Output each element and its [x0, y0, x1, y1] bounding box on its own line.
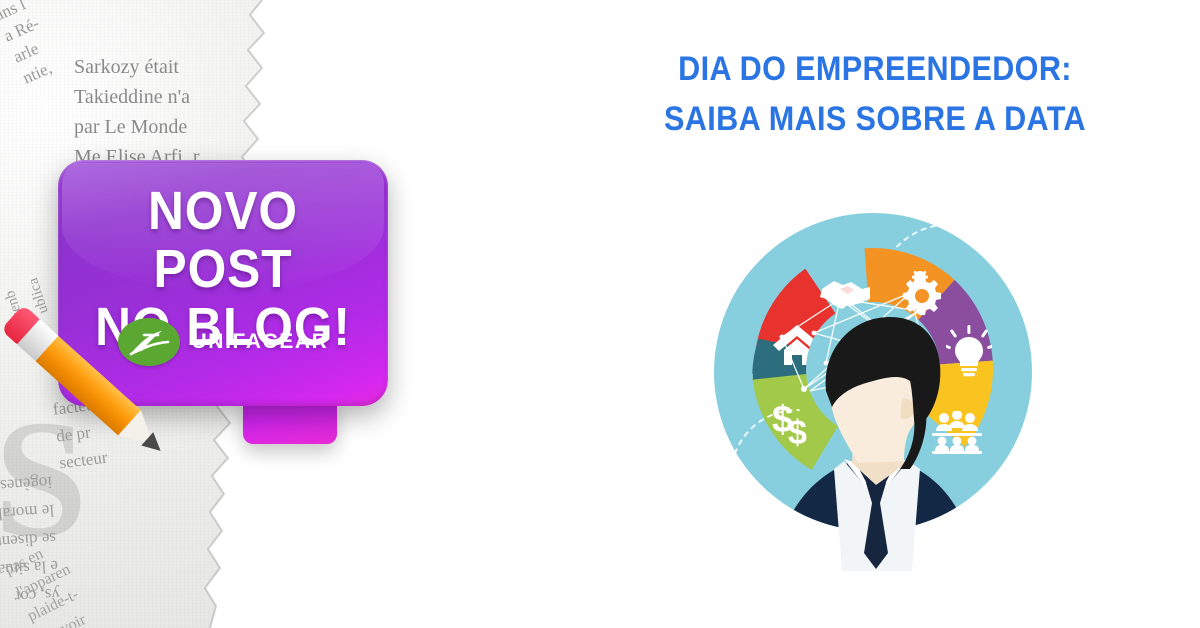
newspaper-line: secteur: [58, 448, 108, 473]
headline-line-1: DIA DO EMPREENDEDOR:: [619, 44, 1132, 94]
brand-lockup: UNIFACEAR: [58, 318, 388, 366]
unifacear-leaf-icon: [118, 318, 180, 366]
speech-bubble[interactable]: NOVO POST NO BLOG! UNIFACEAR: [58, 160, 388, 406]
headline-line-2: SAIBA MAIS SOBRE A DATA: [619, 94, 1132, 144]
promo-banner: S ans l a Ré- arle ntie, Sarkozy était T…: [0, 0, 1200, 628]
page-title: DIA DO EMPREENDEDOR: SAIBA MAIS SOBRE A …: [619, 44, 1132, 144]
brand-name: UNIFACEAR: [192, 330, 329, 354]
newspaper-line: le moral,: [0, 501, 55, 524]
leaf-f-glyph: [118, 318, 180, 366]
newspaper-line: ab xne sap: [0, 266, 2, 331]
newspaper-line: de pr: [55, 423, 92, 446]
bubble-line-1: NOVO POST: [148, 181, 298, 299]
businessman-figure: [714, 213, 1032, 571]
newspaper-line: iogènes,: [0, 473, 53, 496]
entrepreneur-illustration: $ $: [714, 213, 1032, 571]
